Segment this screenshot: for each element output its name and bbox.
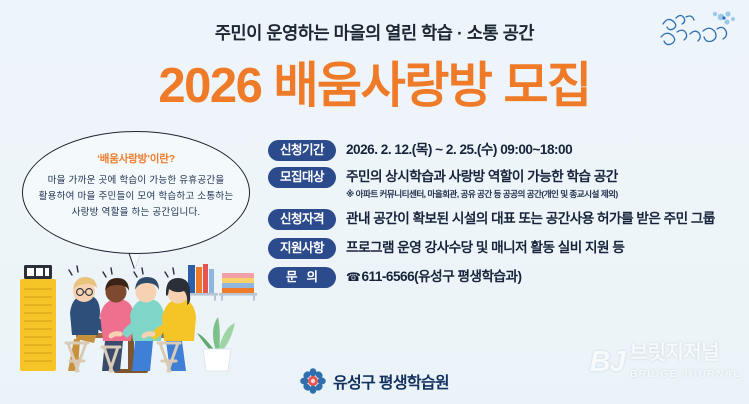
poster-canvas: 주민이 운영하는 마을의 열린 학습 · 소통 공간 2026 배움사랑방 모집…: [0, 0, 749, 404]
badge-contact: 문의: [268, 267, 336, 288]
info-row-eligibility: 신청자격 관내 공간이 확보된 시설의 대표 또는 공간사용 허가를 받은 주민…: [268, 209, 738, 230]
info-row-contact: 문의 ☎611-6566(유성구 평생학습과): [268, 267, 738, 288]
telephone-icon: ☎: [346, 270, 360, 284]
people-at-table-illustration: [6, 243, 264, 375]
bubble-line-2: 활용하여 마을 주민들이 모여 학습하고 소통하는: [34, 189, 238, 205]
bridge-journal-watermark: BJ 브릿지저널 BRIDGE JOURNAL: [590, 343, 741, 382]
info-row-body: 주민의 상시학습과 사랑방 역할이 가능한 학습 공간 ※ 아파트 커뮤니티센터…: [336, 167, 738, 201]
bubble-heading: ‘배움사랑방’이란?: [34, 151, 238, 166]
info-text-target: 주민의 상시학습과 사랑방 역할이 가능한 학습 공간: [346, 168, 738, 186]
stools: [66, 343, 180, 371]
badge-target: 모집대상: [268, 167, 336, 188]
institute-name: 유성구 평생학습원: [333, 369, 449, 393]
info-text-eligibility: 관내 공간이 확보된 시설의 대표 또는 공간사용 허가를 받은 주민 그룹: [346, 210, 738, 228]
bubble-line-1: 마을 가까운 곳에 학습이 가능한 유휴공간을: [34, 173, 238, 189]
contact-phone-text: 611-6566(유성구 평생학습과): [361, 269, 521, 284]
info-row-application-period: 신청기간 2026. 2. 12.(목) ~ 2. 25.(수) 09:00~1…: [268, 140, 738, 161]
badge-eligibility: 신청자격: [268, 209, 336, 230]
poster-subtitle: 주민이 운영하는 마을의 열린 학습 · 소통 공간: [0, 20, 749, 45]
info-row-target: 모집대상 주민의 상시학습과 사랑방 역할이 가능한 학습 공간 ※ 아파트 커…: [268, 167, 738, 201]
poster-title: 2026 배움사랑방 모집: [0, 57, 749, 115]
watermark-mark: BJ: [590, 346, 625, 379]
watermark-text: 브릿지저널 BRIDGE JOURNAL: [630, 343, 741, 382]
potted-plant: [197, 317, 235, 371]
watermark-korean: 브릿지저널: [630, 342, 720, 364]
info-note-target: ※ 아파트 커뮤니티센터, 마을회관, 공유 공간 등 공공의 공간(개인 및 …: [346, 188, 738, 201]
motion-marks: [69, 266, 174, 277]
watermark-english: BRIDGE JOURNAL: [630, 368, 741, 380]
institute-logo: 유성구 평생학습원: [300, 368, 449, 394]
info-row-body: 관내 공간이 확보된 시설의 대표 또는 공간사용 허가를 받은 주민 그룹: [336, 209, 738, 228]
speech-bubble-content: ‘배움사랑방’이란? 마을 가까운 곳에 학습이 가능한 유휴공간을 활용하여 …: [34, 151, 238, 221]
info-list: 신청기간 2026. 2. 12.(목) ~ 2. 25.(수) 09:00~1…: [268, 140, 738, 294]
info-text-support: 프로그램 운영 강사수당 및 매니저 활동 실비 지원 등: [346, 239, 738, 257]
bookshelf: [184, 264, 257, 301]
badge-application-period: 신청기간: [268, 140, 336, 161]
info-row-support: 지원사항 프로그램 운영 강사수당 및 매니저 활동 실비 지원 등: [268, 238, 738, 259]
info-row-body: 프로그램 운영 강사수당 및 매니저 활동 실비 지원 등: [336, 238, 738, 257]
badge-support: 지원사항: [268, 238, 336, 259]
info-text-application-period: 2026. 2. 12.(목) ~ 2. 25.(수) 09:00~18:00: [346, 141, 738, 159]
bulletin-board: [20, 265, 56, 371]
bubble-line-3: 사랑방 역할을 하는 공간입니다.: [34, 205, 238, 221]
flower-logo-icon: [300, 368, 326, 394]
info-row-body: 2026. 2. 12.(목) ~ 2. 25.(수) 09:00~18:00: [336, 140, 738, 159]
info-row-body: ☎611-6566(유성구 평생학습과): [336, 267, 738, 286]
info-text-contact: ☎611-6566(유성구 평생학습과): [346, 268, 738, 286]
